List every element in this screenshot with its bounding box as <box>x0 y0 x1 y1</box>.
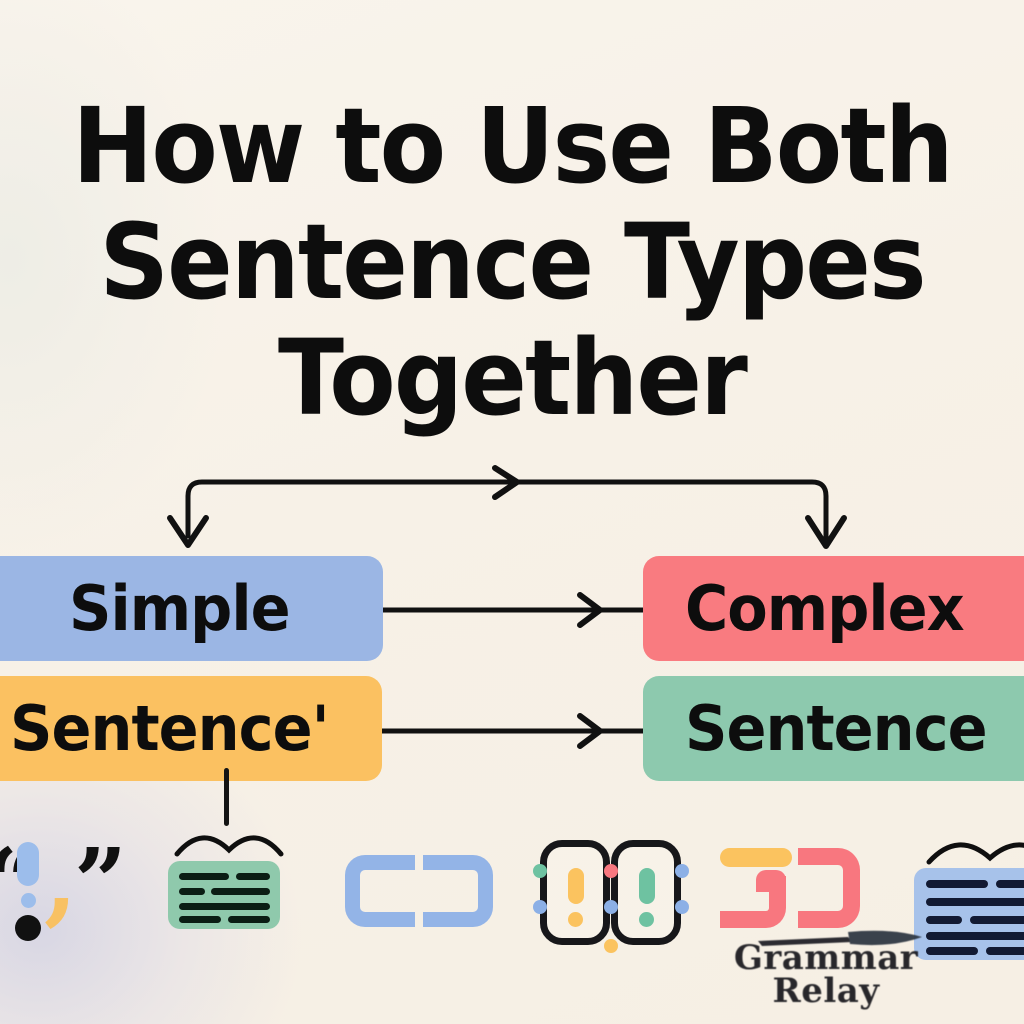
punctuation-cluster-icon: “ , ” <box>0 836 126 946</box>
coral-quote-bar <box>720 848 792 867</box>
link-half-right <box>423 855 493 927</box>
corner-dot-2 <box>533 900 547 914</box>
poster-canvas: How to Use Both Sentence Types Together … <box>0 0 1024 1024</box>
comma-icon: , <box>44 832 77 928</box>
coral-quote-left-top <box>756 870 786 892</box>
corner-dot-1 <box>533 864 547 878</box>
green-text-card-icon <box>160 768 300 948</box>
link-half-left <box>345 855 415 927</box>
coral-quote-right <box>798 848 860 928</box>
coral-quote-icon <box>712 848 857 928</box>
corner-dot-6 <box>675 900 689 914</box>
period-dot-icon <box>15 915 41 941</box>
corner-dot-7 <box>604 939 618 953</box>
broken-link-icon <box>345 855 493 927</box>
exclamation-stem-icon <box>17 842 39 886</box>
connector-stem-down <box>224 768 229 826</box>
corner-dot-5 <box>675 864 689 878</box>
watermark: Grammar Relay <box>700 942 952 1018</box>
watermark-line-2: Relay <box>700 974 952 1008</box>
corner-dot-4 <box>604 900 618 914</box>
exclamation-dot-icon <box>21 893 36 908</box>
book-arcs-icon-2 <box>926 830 1024 866</box>
quote-close-icon: ” <box>74 836 127 928</box>
corner-dot-3 <box>604 864 618 878</box>
book-arcs-icon <box>174 824 284 858</box>
pen-nib-icon <box>756 928 926 950</box>
green-card-body <box>168 861 280 929</box>
icon-strip: “ , ” <box>0 0 1024 1024</box>
exclamation-cards-icon <box>540 840 685 945</box>
